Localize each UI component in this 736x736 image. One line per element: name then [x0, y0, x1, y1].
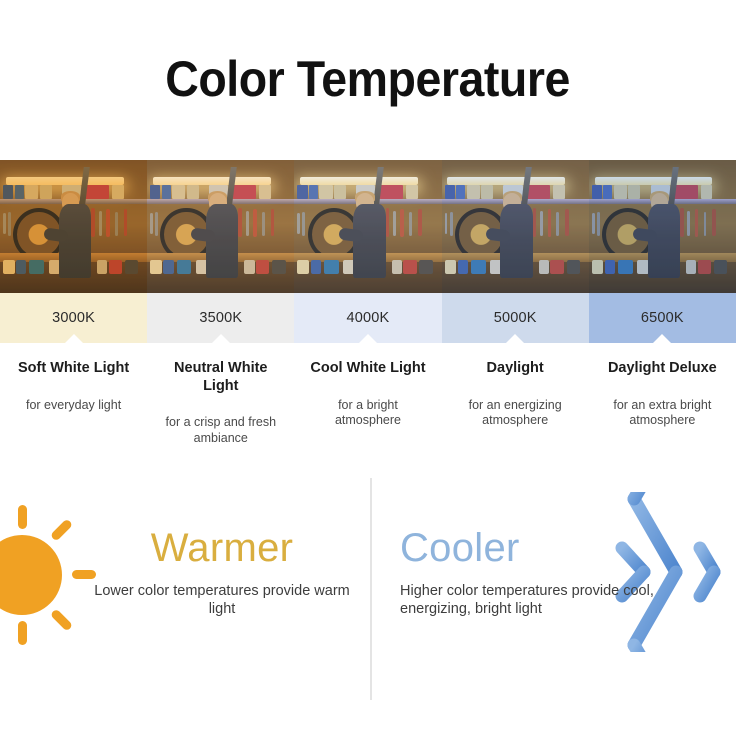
swatch-notch: [653, 334, 671, 343]
light-type-name: Cool White Light: [310, 360, 425, 378]
cooler-body: Higher color temperatures provide cool, …: [400, 582, 675, 619]
kelvin-swatch[interactable]: 4000K: [294, 293, 441, 343]
description-row: Soft White Lightfor everyday lightNeutra…: [0, 360, 736, 447]
light-type-description: for an energizing atmosphere: [459, 398, 571, 430]
photo-cell: [147, 160, 294, 293]
infographic-page: Color Temperature 3000K3500K4000K5000K65…: [0, 0, 736, 736]
light-type-name: Daylight: [487, 360, 544, 378]
title-section: Color Temperature: [0, 0, 736, 158]
light-type-description: for everyday light: [26, 398, 121, 414]
sun-ray: [18, 505, 27, 529]
kelvin-label: 6500K: [641, 310, 684, 326]
kelvin-label: 3500K: [199, 310, 242, 326]
light-type-name: Neutral White Light: [161, 360, 281, 395]
kelvin-swatch[interactable]: 3000K: [0, 293, 147, 343]
kelvin-swatch[interactable]: 6500K: [589, 293, 736, 343]
warmer-body: Lower color temperatures provide warm li…: [92, 582, 352, 619]
photo-cell: [442, 160, 589, 293]
warmer-heading: Warmer: [92, 528, 352, 568]
cooler-heading: Cooler: [400, 528, 675, 568]
description-cell: Neutral White Lightfor a crisp and fresh…: [147, 360, 294, 447]
section-divider: [370, 478, 372, 700]
kelvin-swatch[interactable]: 5000K: [442, 293, 589, 343]
cooler-block: Cooler Higher color temperatures provide…: [400, 528, 675, 619]
light-type-name: Daylight Deluxe: [608, 360, 717, 378]
photo-cell: [0, 160, 147, 293]
sun-ray: [50, 518, 73, 541]
warmer-block: Warmer Lower color temperatures provide …: [92, 528, 352, 619]
kelvin-swatch[interactable]: 3500K: [147, 293, 294, 343]
description-cell: Daylight Deluxefor an extra bright atmos…: [589, 360, 736, 447]
light-type-description: for a crisp and fresh ambiance: [165, 415, 277, 447]
kelvin-swatch-band: 3000K3500K4000K5000K6500K: [0, 293, 736, 343]
swatch-notch: [506, 334, 524, 343]
sun-ray: [18, 621, 27, 645]
photo-cell: [294, 160, 441, 293]
description-cell: Soft White Lightfor everyday light: [0, 360, 147, 447]
kelvin-label: 4000K: [347, 310, 390, 326]
sun-core: [0, 535, 62, 615]
swatch-notch: [212, 334, 230, 343]
swatch-notch: [359, 334, 377, 343]
light-type-description: for a bright atmosphere: [312, 398, 424, 430]
photo-cell: [589, 160, 736, 293]
light-type-name: Soft White Light: [18, 360, 129, 378]
kelvin-label: 3000K: [52, 310, 95, 326]
kelvin-label: 5000K: [494, 310, 537, 326]
swatch-notch: [65, 334, 83, 343]
description-cell: Daylightfor an energizing atmosphere: [442, 360, 589, 447]
sun-icon: [0, 505, 102, 645]
light-type-description: for an extra bright atmosphere: [606, 398, 718, 430]
photo-comparison-strip: [0, 160, 736, 293]
description-cell: Cool White Lightfor a bright atmosphere: [294, 360, 441, 447]
page-title: Color Temperature: [166, 50, 571, 108]
sun-ray: [50, 608, 73, 631]
